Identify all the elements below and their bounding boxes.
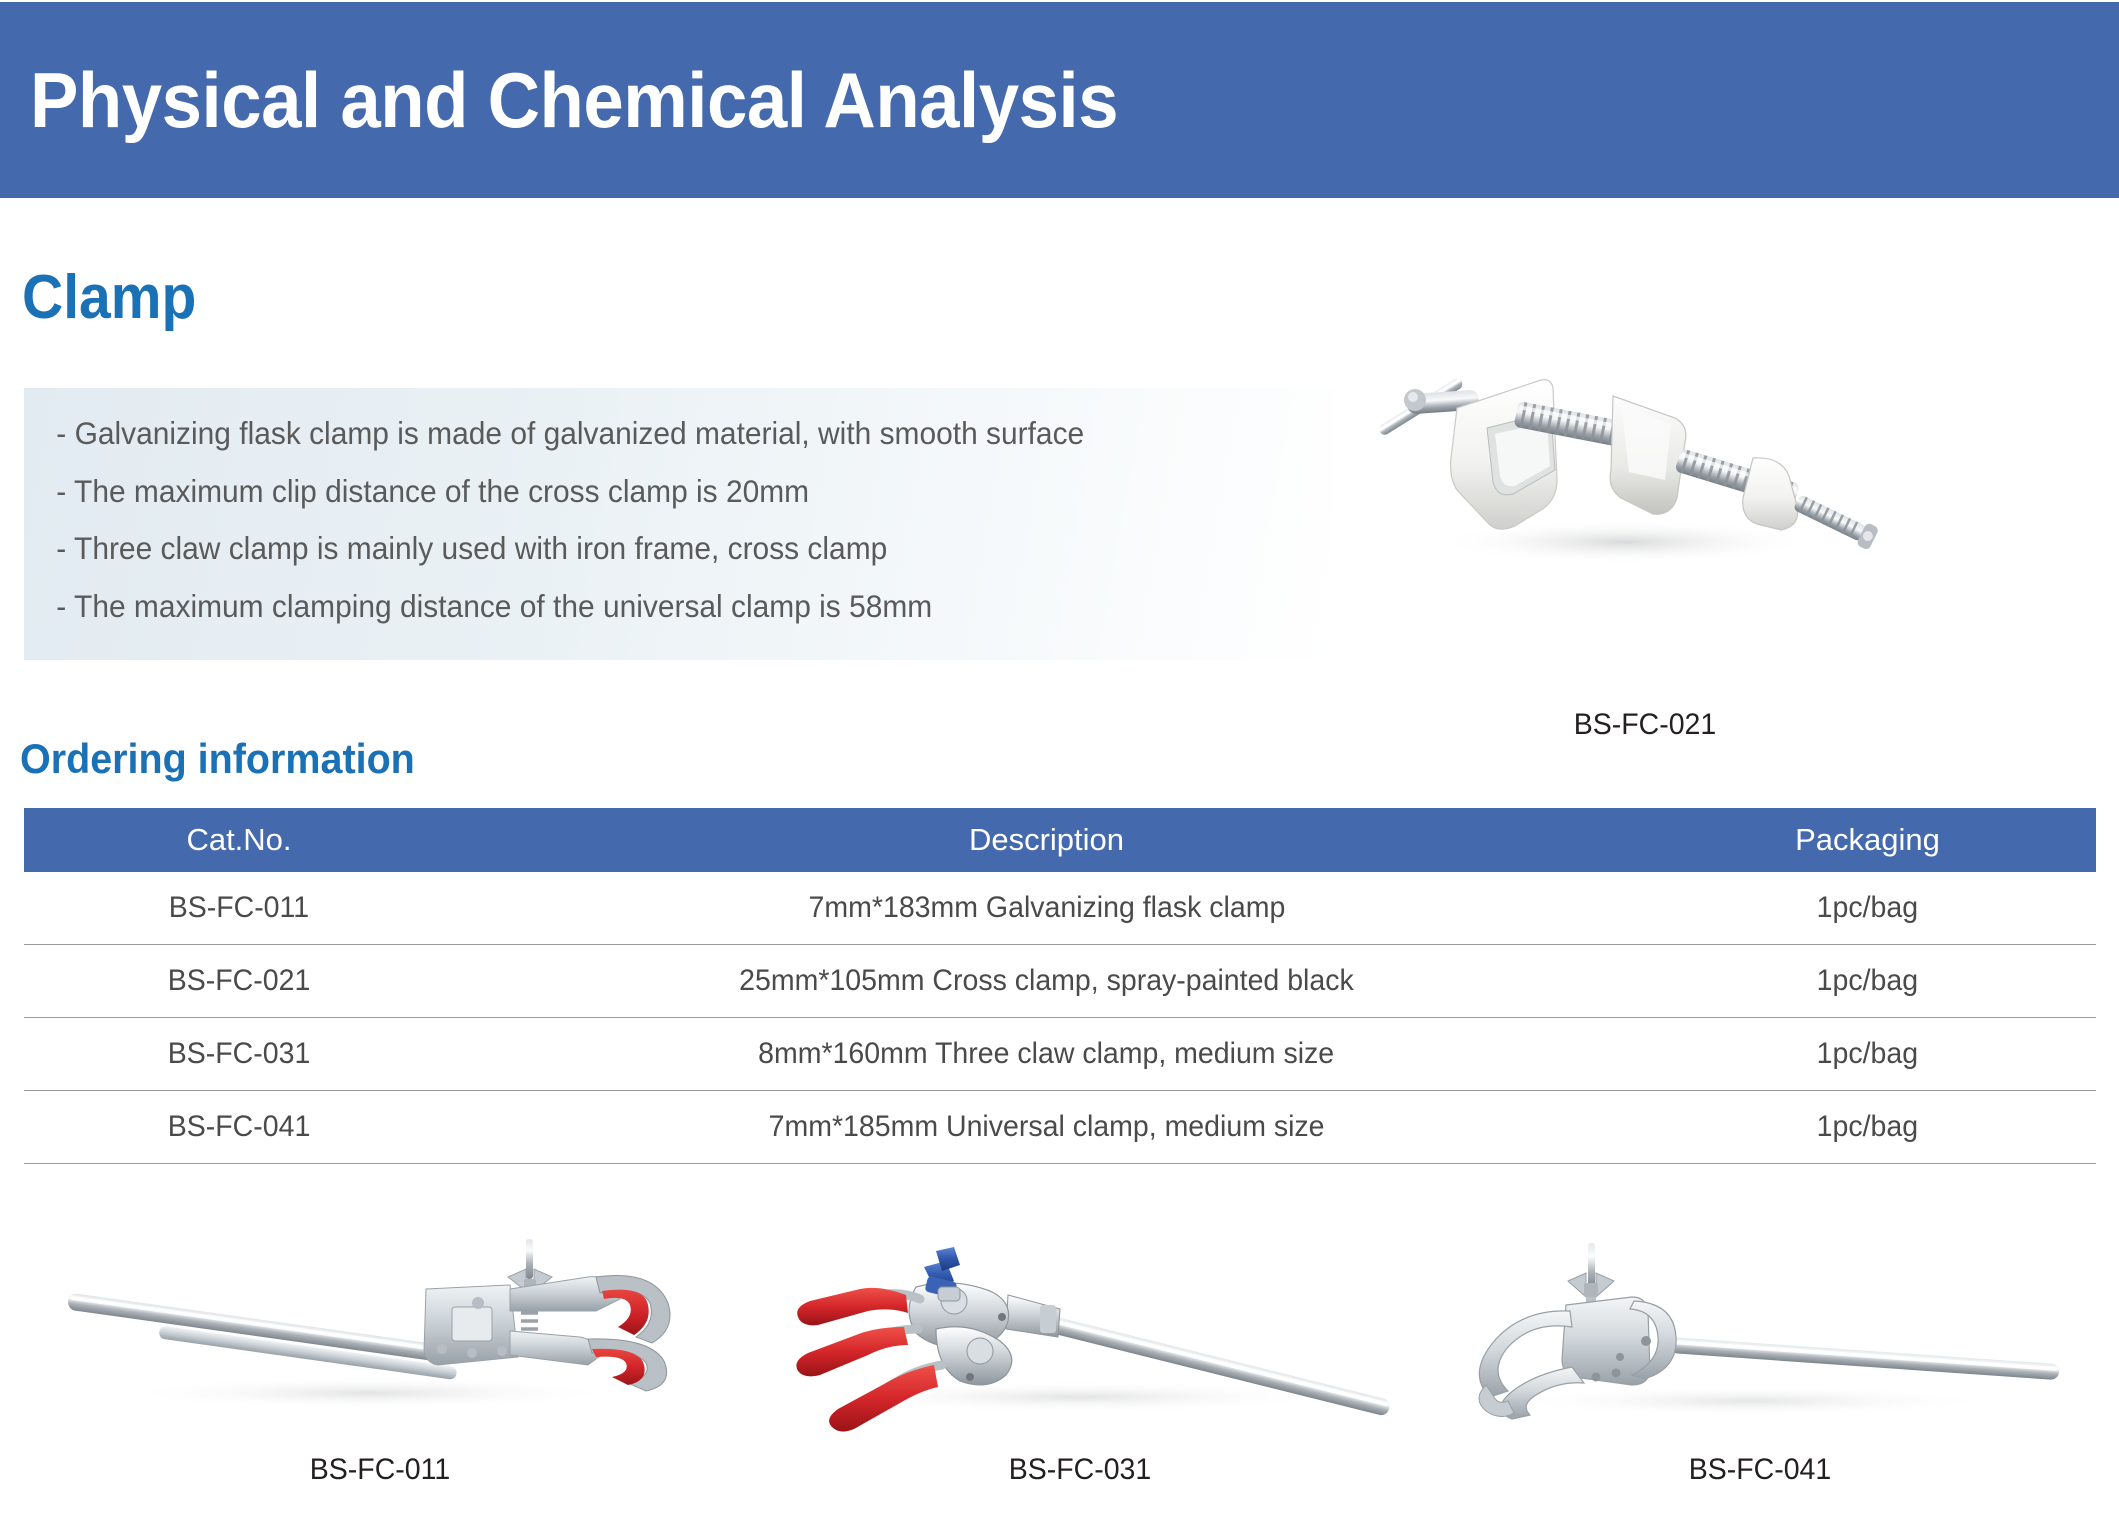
feature-item: - The maximum clamping distance of the u… [24, 591, 1269, 623]
three-claw-clamp-illustration [740, 1225, 1420, 1440]
cell-packaging: 1pc/bag [1639, 1091, 2096, 1164]
description-value: 7mm*185mm Universal clamp, medium size [769, 1110, 1325, 1144]
column-header-cat-no: Cat.No. [24, 808, 454, 872]
cell-cat-no: BS-FC-021 [24, 945, 454, 1018]
table-row: BS-FC-021 25mm*105mm Cross clamp, spray-… [24, 945, 2096, 1018]
packaging-value: 1pc/bag [1817, 1037, 1918, 1071]
packaging-value: 1pc/bag [1817, 1110, 1918, 1144]
product-item: BS-FC-031 [740, 1225, 1420, 1515]
universal-clamp-illustration [1420, 1225, 2100, 1440]
cell-description: 7mm*183mm Galvanizing flask clamp [454, 872, 1639, 945]
ordering-information-table: Cat.No. Description Packaging BS-FC-011 … [24, 808, 2096, 1164]
packaging-value: 1pc/bag [1817, 964, 1918, 998]
cell-packaging: 1pc/bag [1639, 945, 2096, 1018]
product-item: BS-FC-011 [40, 1225, 720, 1515]
cell-packaging: 1pc/bag [1639, 872, 2096, 945]
cat-no-value: BS-FC-041 [168, 1110, 311, 1144]
cat-no-value: BS-FC-021 [168, 964, 311, 998]
cell-description: 8mm*160mm Three claw clamp, medium size [454, 1018, 1639, 1091]
feature-item: - Three claw clamp is mainly used with i… [24, 533, 1269, 565]
page-title: Physical and Chemical Analysis [30, 55, 1118, 146]
description-value: 25mm*105mm Cross clamp, spray-painted bl… [739, 964, 1354, 998]
cell-cat-no: BS-FC-031 [24, 1018, 454, 1091]
cell-packaging: 1pc/bag [1639, 1018, 2096, 1091]
cross-clamp-illustration [1345, 330, 1945, 590]
flask-clamp-illustration [40, 1225, 720, 1440]
table-row: BS-FC-011 7mm*183mm Galvanizing flask cl… [24, 872, 2096, 945]
table-body: BS-FC-011 7mm*183mm Galvanizing flask cl… [24, 872, 2096, 1164]
product-caption: BS-FC-031 [757, 1453, 1403, 1487]
table-row: BS-FC-031 8mm*160mm Three claw clamp, me… [24, 1018, 2096, 1091]
packaging-value: 1pc/bag [1817, 891, 1918, 925]
product-gallery: BS-FC-011 [0, 1225, 2119, 1515]
ordering-information-heading: Ordering information [20, 735, 415, 783]
table-header-row: Cat.No. Description Packaging [24, 808, 2096, 872]
feature-item: - The maximum clip distance of the cross… [24, 476, 1269, 508]
product-caption: BS-FC-011 [57, 1453, 703, 1487]
column-header-description: Description [454, 808, 1639, 872]
column-header-packaging: Packaging [1639, 808, 2096, 872]
cell-cat-no: BS-FC-041 [24, 1091, 454, 1164]
cat-no-value: BS-FC-031 [168, 1037, 311, 1071]
description-value: 8mm*160mm Three claw clamp, medium size [759, 1037, 1335, 1071]
hero-product-image [1345, 330, 1945, 590]
cell-description: 7mm*185mm Universal clamp, medium size [454, 1091, 1639, 1164]
table-header: Cat.No. Description Packaging [24, 808, 2096, 872]
section-title: Clamp [22, 262, 196, 333]
description-value: 7mm*183mm Galvanizing flask clamp [808, 891, 1285, 925]
product-caption: BS-FC-041 [1437, 1453, 2083, 1487]
features-box: - Galvanizing flask clamp is made of gal… [24, 388, 1334, 660]
cell-description: 25mm*105mm Cross clamp, spray-painted bl… [454, 945, 1639, 1018]
feature-item: - Galvanizing flask clamp is made of gal… [24, 418, 1269, 450]
cell-cat-no: BS-FC-011 [24, 872, 454, 945]
page-header-banner: Physical and Chemical Analysis [0, 2, 2119, 198]
hero-caption: BS-FC-021 [1360, 708, 1930, 742]
table-row: BS-FC-041 7mm*185mm Universal clamp, med… [24, 1091, 2096, 1164]
cat-no-value: BS-FC-011 [169, 891, 309, 925]
product-item: BS-FC-041 [1420, 1225, 2100, 1515]
